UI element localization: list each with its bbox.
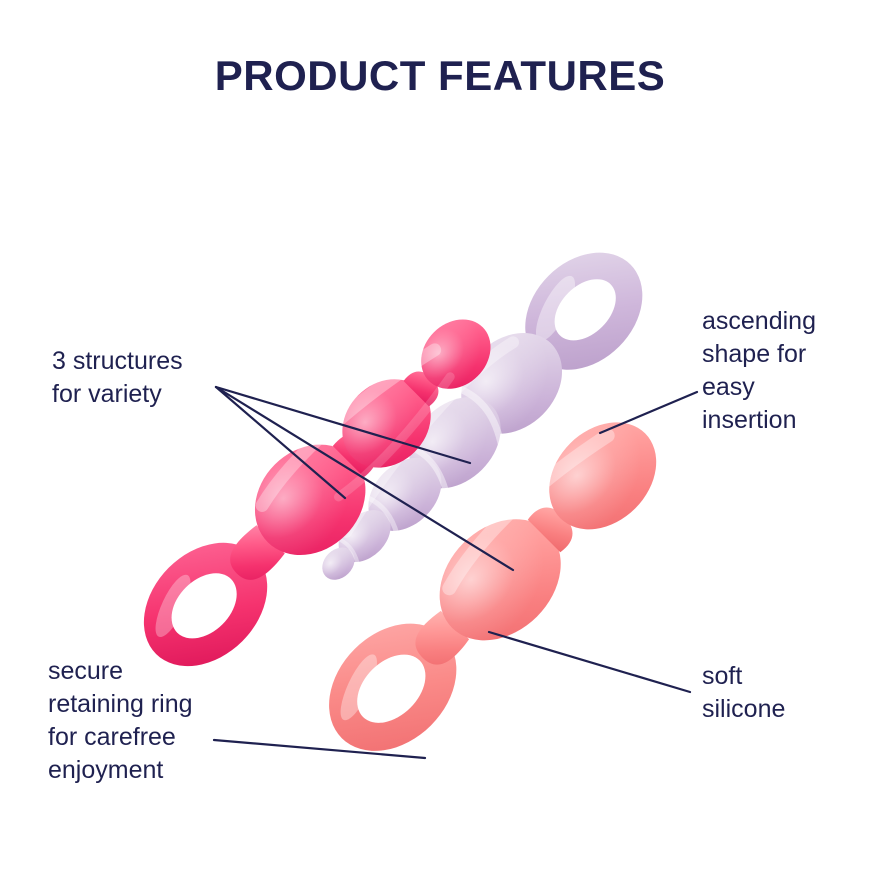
callout-line: soft bbox=[702, 660, 877, 693]
callout-line: insertion bbox=[702, 404, 877, 437]
callout-line: secure bbox=[48, 655, 288, 688]
callout-soft-silicone: soft silicone bbox=[702, 660, 877, 726]
callout-line: easy bbox=[702, 371, 877, 404]
callout-line: enjoyment bbox=[48, 754, 288, 787]
callout-line: shape for bbox=[702, 338, 877, 371]
callout-line: retaining ring bbox=[48, 688, 288, 721]
callout-line: for variety bbox=[52, 378, 282, 411]
callout-line: 3 structures bbox=[52, 345, 282, 378]
product-features-page: PRODUCT FEATURES bbox=[0, 0, 880, 880]
callout-ascending-shape: ascending shape for easy insertion bbox=[702, 305, 877, 437]
callout-line: silicone bbox=[702, 693, 877, 726]
callout-secure-retaining-ring: secure retaining ring for carefree enjoy… bbox=[48, 655, 288, 787]
callout-line: for carefree bbox=[48, 721, 288, 754]
callout-3-structures-for-variety: 3 structures for variety bbox=[52, 345, 282, 411]
callout-line: ascending bbox=[702, 305, 877, 338]
